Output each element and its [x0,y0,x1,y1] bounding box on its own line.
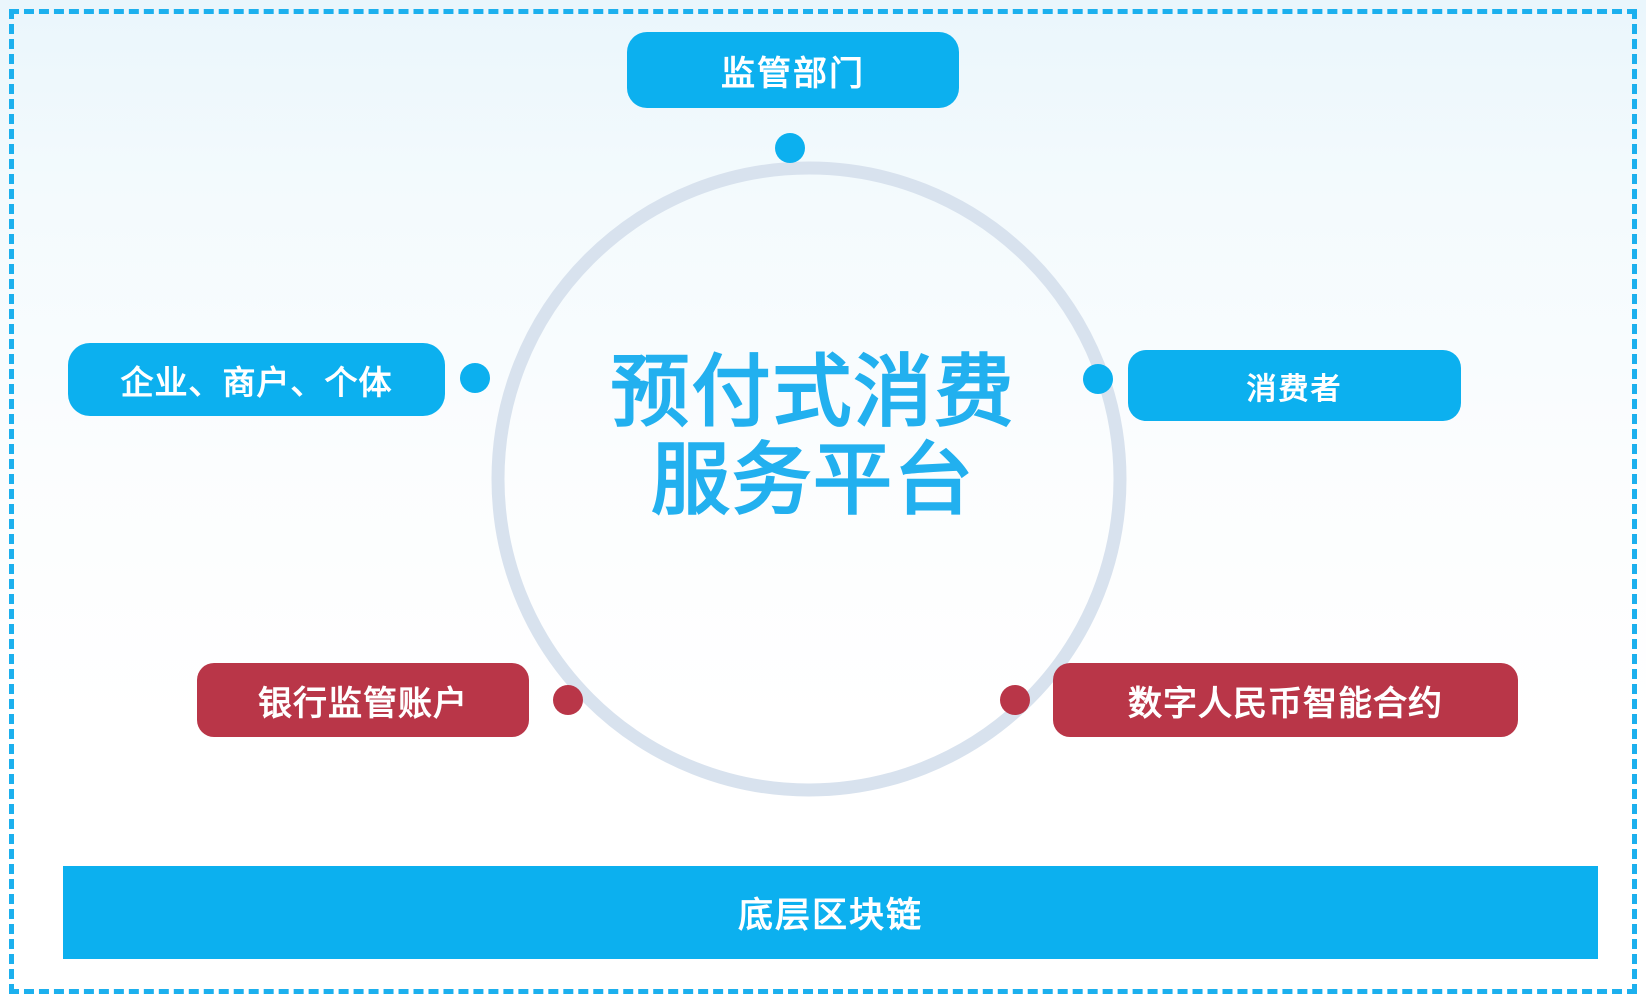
node-bank-supervision-account-label: 银行监管账户 [258,676,468,725]
center-title-line2: 服务平台 [651,435,975,524]
node-bank-supervision-account[interactable]: 银行监管账户 [197,663,529,737]
foundation-blockchain-label: 底层区块链 [738,887,923,938]
ring-dot-right [1083,364,1113,394]
ring-dot-bottom-left [553,685,583,715]
diagram-canvas: 预付式消费服务平台 监管部门 企业、商户、个体 消费者 银行监管账户 数字人民币… [0,0,1646,1000]
node-consumer-label: 消费者 [1247,364,1343,408]
node-regulator[interactable]: 监管部门 [627,32,959,108]
center-title-line1: 预付式消费 [611,347,1016,436]
node-digital-rmb-smart-contract[interactable]: 数字人民币智能合约 [1053,663,1518,737]
ring-dot-top [775,133,805,163]
ring-dot-bottom-right [1000,685,1030,715]
node-enterprise-merchant-individual[interactable]: 企业、商户、个体 [68,343,445,416]
node-digital-rmb-smart-contract-label: 数字人民币智能合约 [1128,676,1443,725]
foundation-blockchain-bar[interactable]: 底层区块链 [63,866,1598,959]
center-platform-title: 预付式消费服务平台 [553,348,1073,525]
node-enterprise-merchant-individual-label: 企业、商户、个体 [121,356,393,404]
ring-dot-left [460,363,490,393]
node-regulator-label: 监管部门 [721,46,865,95]
node-consumer[interactable]: 消费者 [1128,350,1461,421]
